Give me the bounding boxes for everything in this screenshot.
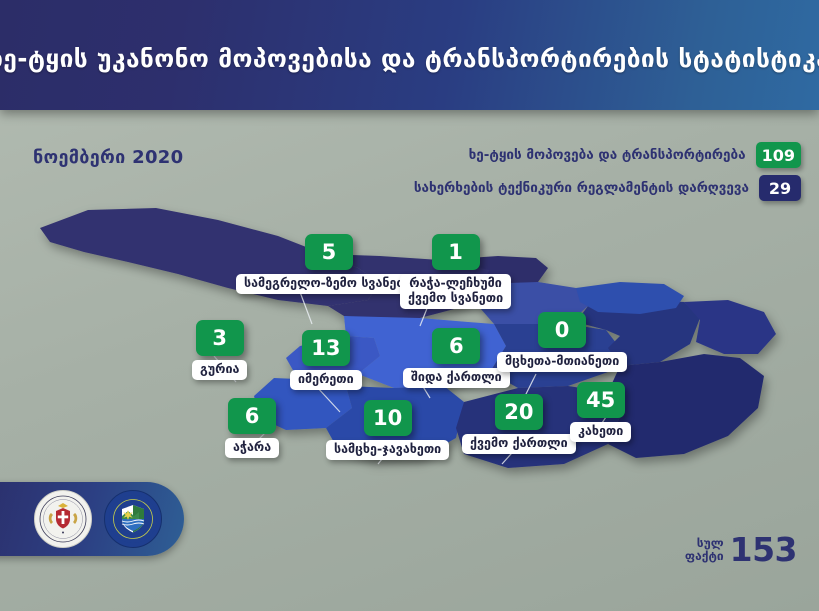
total-block: სულ ფაქტი 153 bbox=[685, 530, 797, 569]
legend-label-sawmill: სახერხების ტექნიკური რეგლამენტის დარღვევ… bbox=[414, 180, 749, 196]
total-label: სულ ფაქტი bbox=[685, 537, 724, 562]
marker-label-samtskhe: სამცხე-ჯავახეთი bbox=[326, 440, 449, 460]
marker-label-racha: რაჭა-ლეჩხუმი ქვემო სვანეთი bbox=[400, 274, 511, 309]
ministry-of-environment-seal-icon bbox=[34, 490, 92, 548]
marker-count-racha: 1 bbox=[432, 234, 480, 270]
marker-guria[interactable]: 3 გურია bbox=[192, 320, 247, 380]
marker-label-kvemo-kartli: ქვემო ქართლი bbox=[462, 434, 576, 454]
marker-label-samegrelo: სამეგრელო-ზემო სვანეთი bbox=[236, 274, 422, 294]
marker-label-guria: გურია bbox=[192, 360, 247, 380]
total-value: 153 bbox=[730, 530, 797, 569]
marker-count-adjara: 6 bbox=[228, 398, 276, 434]
total-label-line1: სულ bbox=[685, 537, 724, 550]
logo-pod bbox=[0, 482, 184, 556]
region-kakheti bbox=[608, 354, 764, 458]
marker-label-adjara: აჭარა bbox=[225, 438, 279, 458]
marker-count-samtskhe: 10 bbox=[364, 400, 412, 436]
environmental-supervision-department-seal-icon bbox=[104, 490, 162, 548]
marker-shida-kartli[interactable]: 6 შიდა ქართლი bbox=[403, 328, 510, 388]
marker-samtskhe-javakheti[interactable]: 10 სამცხე-ჯავახეთი bbox=[326, 400, 449, 460]
marker-label-shida-kartli: შიდა ქართლი bbox=[403, 368, 510, 388]
marker-count-kvemo-kartli: 20 bbox=[495, 394, 543, 430]
marker-label-racha-line2: ქვემო სვანეთი bbox=[408, 290, 503, 305]
marker-label-racha-line1: რაჭა-ლეჩხუმი bbox=[409, 275, 502, 290]
marker-label-mtskheta: მცხეთა-მთიანეთი bbox=[497, 352, 627, 372]
marker-samegrelo-zemo-svaneti[interactable]: 5 სამეგრელო-ზემო სვანეთი bbox=[236, 234, 422, 294]
marker-kakheti[interactable]: 45 კახეთი bbox=[570, 382, 631, 442]
marker-racha-lechkhumi[interactable]: 1 რაჭა-ლეჩხუმი ქვემო სვანეთი bbox=[400, 234, 511, 309]
legend-label-harvest: ხე-ტყის მოპოვება და ტრანსპორტირება bbox=[469, 147, 746, 163]
marker-kvemo-kartli[interactable]: 20 ქვემო ქართლი bbox=[462, 394, 576, 454]
total-label-line2: ფაქტი bbox=[685, 550, 724, 563]
department-crest-icon bbox=[108, 494, 158, 544]
marker-adjara[interactable]: 6 აჭარა bbox=[225, 398, 279, 458]
legend-value-harvest: 109 bbox=[756, 142, 801, 168]
infographic-poster: ხე-ტყის უკანონო მოპოვებისა და ტრანსპორტი… bbox=[0, 0, 819, 611]
header-band: ხე-ტყის უკანონო მოპოვებისა და ტრანსპორტი… bbox=[0, 0, 819, 110]
period-label: ნოემბერი 2020 bbox=[33, 147, 183, 168]
marker-mtskheta-mtianeti[interactable]: 0 მცხეთა-მთიანეთი bbox=[497, 312, 627, 372]
marker-count-kakheti: 45 bbox=[577, 382, 625, 418]
marker-count-shida-kartli: 6 bbox=[432, 328, 480, 364]
marker-label-imereti: იმერეთი bbox=[290, 370, 362, 390]
marker-count-mtskheta: 0 bbox=[538, 312, 586, 348]
legend-row-harvest: ხე-ტყის მოპოვება და ტრანსპორტირება 109 bbox=[414, 142, 801, 168]
page-title: ხე-ტყის უკანონო მოპოვებისა და ტრანსპორტი… bbox=[0, 38, 819, 73]
marker-imereti[interactable]: 13 იმერეთი bbox=[290, 330, 362, 390]
marker-label-kakheti: კახეთი bbox=[570, 422, 631, 442]
marker-count-samegrelo: 5 bbox=[305, 234, 353, 270]
legend: ხე-ტყის მოპოვება და ტრანსპორტირება 109 ს… bbox=[414, 142, 801, 201]
marker-count-guria: 3 bbox=[196, 320, 244, 356]
region-kakheti-north bbox=[684, 300, 776, 354]
marker-count-imereti: 13 bbox=[302, 330, 350, 366]
ministry-crest-icon bbox=[39, 495, 87, 543]
